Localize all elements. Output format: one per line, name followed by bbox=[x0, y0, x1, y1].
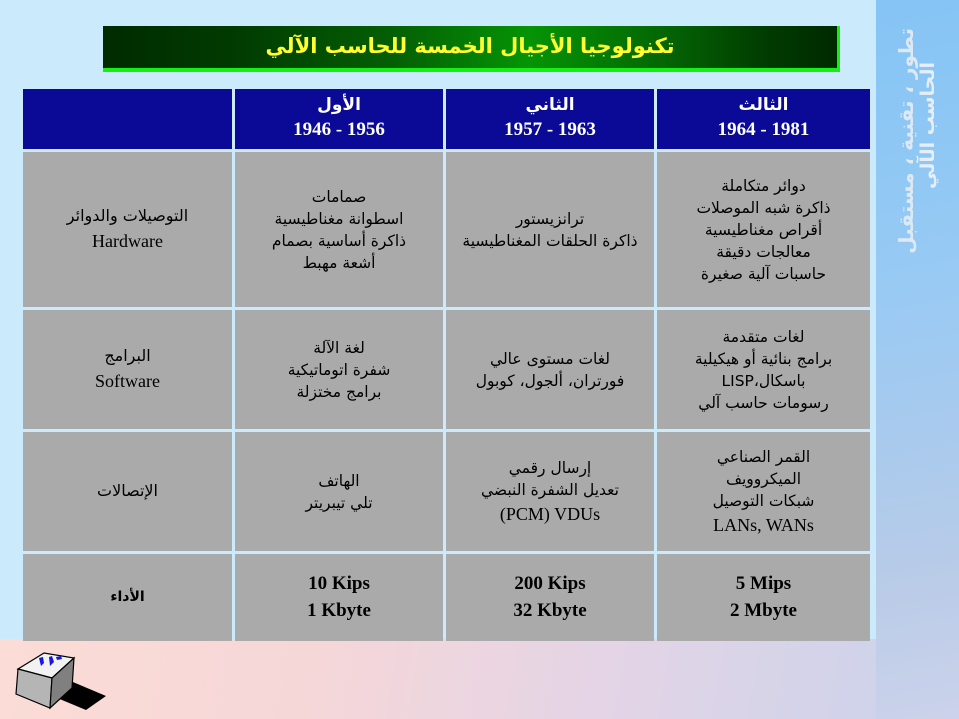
cell-communications-first: الهاتف تلي تيبريتر bbox=[235, 432, 443, 551]
cell-performance-second-text: 200 Kips 32 Kbyte bbox=[452, 571, 648, 624]
cell-communications-third: القمر الصناعي الميكروويف شبكات التوصيل L… bbox=[657, 432, 870, 551]
row-label-performance-ar: الأداء bbox=[29, 588, 226, 608]
table-row-hardware: دوائر متكاملة ذاكرة شبه الموصلات أقراص م… bbox=[23, 152, 870, 307]
row-label-software-ar: البرامج bbox=[29, 345, 226, 368]
row-label-performance: الأداء bbox=[23, 554, 232, 641]
header-third-years: 1964 - 1981 bbox=[663, 118, 864, 142]
table-row-performance: 5 Mips 2 Mbyte 200 Kips 32 Kbyte 10 Kips… bbox=[23, 554, 870, 641]
keycap-icon bbox=[8, 636, 138, 716]
cell-hardware-first-text: صمامات اسطوانة مغناطيسية ذاكرة أساسية بص… bbox=[241, 186, 437, 274]
table-header-row: الثالث 1964 - 1981 الثاني 1957 - 1963 ال… bbox=[23, 89, 870, 149]
cell-performance-first: 10 Kips 1 Kbyte bbox=[235, 554, 443, 641]
cell-performance-second: 200 Kips 32 Kbyte bbox=[446, 554, 654, 641]
slide-root: تطور ، تقنية ، مستقبل الحاسب الآلي تكنول… bbox=[0, 0, 959, 719]
header-generation-third: الثالث 1964 - 1981 bbox=[657, 89, 870, 149]
header-generation-second: الثاني 1957 - 1963 bbox=[446, 89, 654, 149]
header-second-label: الثاني bbox=[452, 96, 648, 116]
cell-performance-first-text: 10 Kips 1 Kbyte bbox=[241, 571, 437, 624]
cell-software-third-text: لغات متقدمة برامج بنائية أو هيكيلية باسك… bbox=[663, 326, 864, 414]
cell-software-third: لغات متقدمة برامج بنائية أو هيكيلية باسك… bbox=[657, 310, 870, 429]
row-label-hardware: التوصيلات والدوائر Hardware bbox=[23, 152, 232, 307]
cell-software-first-text: لغة الآلة شفرة اتوماتيكية برامج مختزلة bbox=[241, 337, 437, 403]
header-second-years: 1957 - 1963 bbox=[452, 118, 648, 142]
header-row-label-blank bbox=[23, 89, 232, 149]
generations-table: الثالث 1964 - 1981 الثاني 1957 - 1963 ال… bbox=[20, 86, 873, 644]
header-third-label: الثالث bbox=[663, 96, 864, 116]
cell-hardware-third: دوائر متكاملة ذاكرة شبه الموصلات أقراص م… bbox=[657, 152, 870, 307]
cell-hardware-second: ترانزيستور ذاكرة الحلقات المغناطيسية bbox=[446, 152, 654, 307]
cell-software-first: لغة الآلة شفرة اتوماتيكية برامج مختزلة bbox=[235, 310, 443, 429]
cell-software-second-text: لغات مستوى عالي فورتران، ألجول، كوبول bbox=[452, 348, 648, 392]
table-row-communications: القمر الصناعي الميكروويف شبكات التوصيل L… bbox=[23, 432, 870, 551]
cell-hardware-first: صمامات اسطوانة مغناطيسية ذاكرة أساسية بص… bbox=[235, 152, 443, 307]
cell-communications-second-en: (PCM) VDUs bbox=[452, 502, 648, 526]
header-first-label: الأول bbox=[241, 96, 437, 116]
header-generation-first: الأول 1946 - 1956 bbox=[235, 89, 443, 149]
cell-communications-first-text: الهاتف تلي تيبريتر bbox=[241, 470, 437, 514]
row-label-software-en: Software bbox=[29, 369, 226, 393]
background-right-sidebar bbox=[876, 0, 959, 719]
row-label-hardware-ar: التوصيلات والدوائر bbox=[29, 205, 226, 228]
table-row-software: لغات متقدمة برامج بنائية أو هيكيلية باسك… bbox=[23, 310, 870, 429]
page-title: تكنولوجيا الأجيال الخمسة للحاسب الآلي bbox=[265, 36, 674, 59]
cell-performance-third: 5 Mips 2 Mbyte bbox=[657, 554, 870, 641]
title-banner: تكنولوجيا الأجيال الخمسة للحاسب الآلي bbox=[103, 26, 840, 72]
row-label-communications: الإتصالات bbox=[23, 432, 232, 551]
cell-communications-second: إرسال رقمي تعديل الشفرة النبضي (PCM) VDU… bbox=[446, 432, 654, 551]
cell-communications-second-ar: إرسال رقمي تعديل الشفرة النبضي bbox=[452, 457, 648, 501]
cell-software-second: لغات مستوى عالي فورتران، ألجول، كوبول bbox=[446, 310, 654, 429]
cell-communications-third-en: LANs, WANs bbox=[663, 513, 864, 537]
header-first-years: 1946 - 1956 bbox=[241, 118, 437, 142]
row-label-hardware-en: Hardware bbox=[29, 229, 226, 253]
row-label-software: البرامج Software bbox=[23, 310, 232, 429]
cell-performance-third-text: 5 Mips 2 Mbyte bbox=[663, 571, 864, 624]
cell-communications-third-ar: القمر الصناعي الميكروويف شبكات التوصيل bbox=[663, 446, 864, 512]
row-label-communications-ar: الإتصالات bbox=[29, 480, 226, 503]
cell-hardware-second-text: ترانزيستور ذاكرة الحلقات المغناطيسية bbox=[452, 208, 648, 252]
cell-hardware-third-text: دوائر متكاملة ذاكرة شبه الموصلات أقراص م… bbox=[663, 175, 864, 285]
